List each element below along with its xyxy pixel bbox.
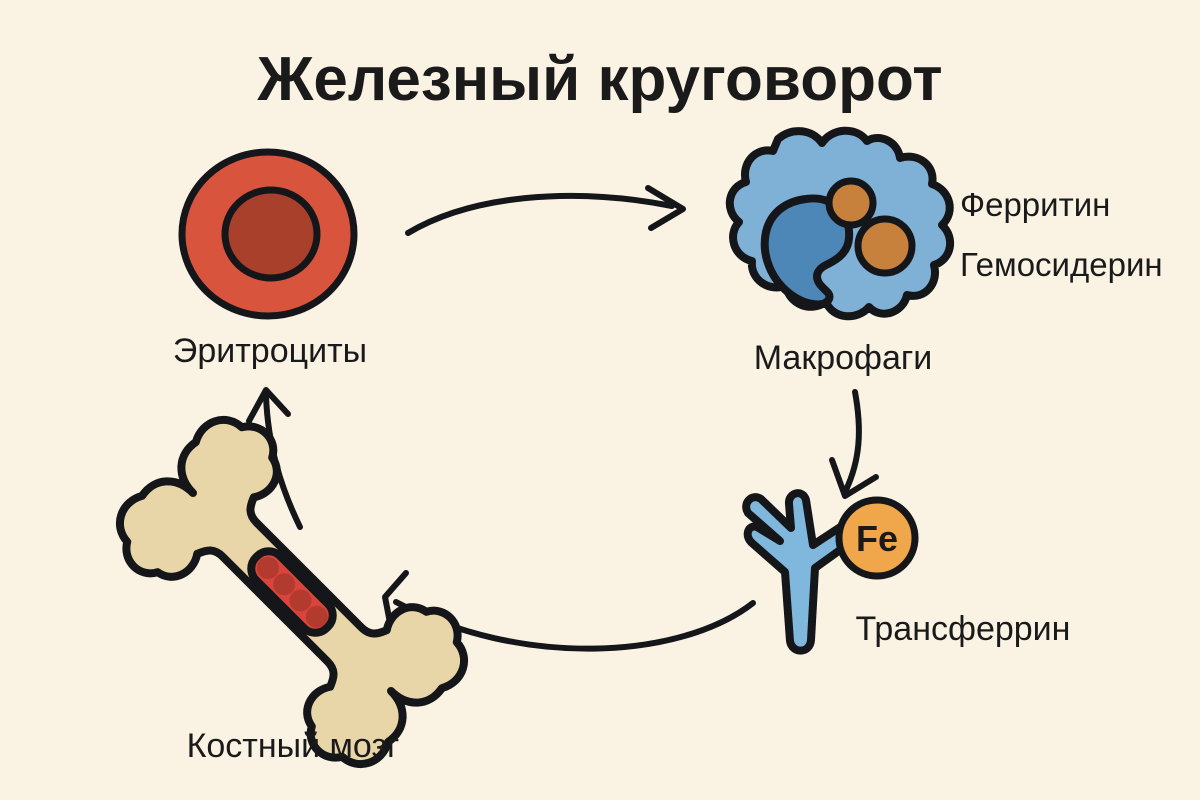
- macrophage-cell-icon: [730, 131, 950, 317]
- label-ferritin: Ферритин: [960, 186, 1110, 223]
- label-macrophages: Макрофаги: [754, 339, 933, 377]
- label-erythrocytes: Эритроциты: [173, 332, 367, 370]
- macrophage-granule: [829, 181, 873, 225]
- arrow-erythrocytes-to-macrophages: [408, 188, 683, 233]
- macrophage-granule: [858, 219, 912, 273]
- arrow-macrophages-to-transferrin: [832, 392, 876, 496]
- label-transferrin: Трансферрин: [856, 610, 1071, 648]
- iron-badge-label: Fe: [856, 518, 898, 559]
- page-title: Железный круговорот: [256, 45, 942, 114]
- iron-cycle-diagram: Железный круговорот Эритроциты: [0, 0, 1200, 800]
- label-bone-marrow: Костный мозг: [187, 727, 400, 765]
- diagram-canvas: Железный круговорот Эритроциты: [0, 0, 1200, 800]
- erythrocyte-center: [225, 190, 317, 278]
- red-blood-cell-icon: [182, 152, 354, 316]
- label-hemosiderin: Гемосидерин: [960, 246, 1163, 283]
